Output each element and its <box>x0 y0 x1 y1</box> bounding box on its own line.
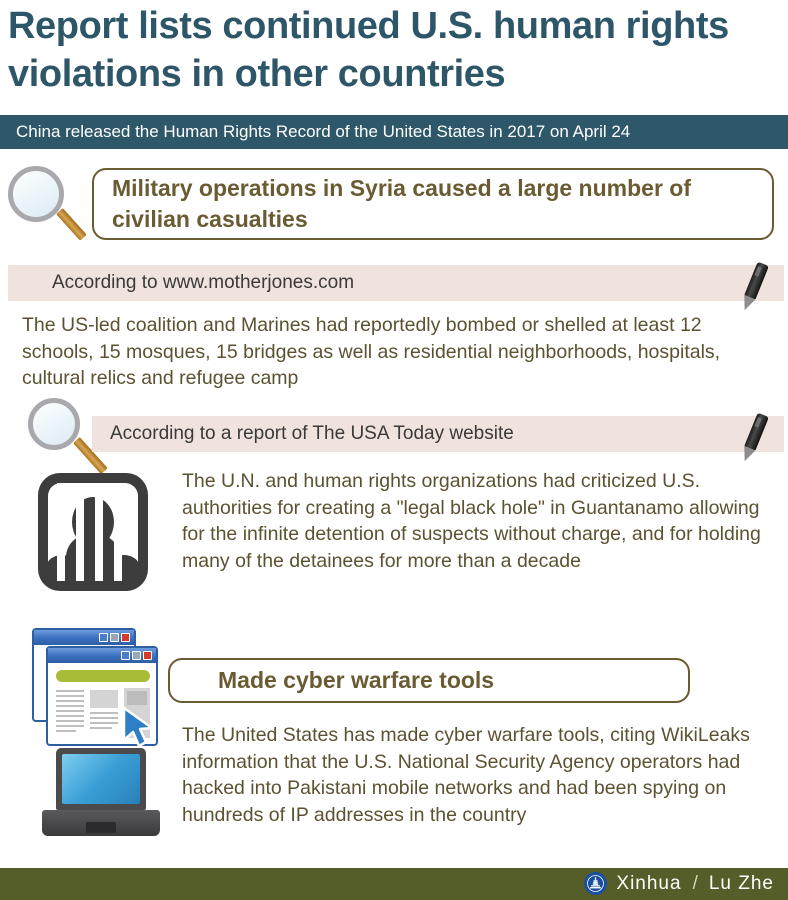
footer-credit: Xinhua / Lu Zhe <box>584 872 774 895</box>
section-1-source-text: According to www.motherjones.com <box>52 271 354 295</box>
section-1-callout: Military operations in Syria caused a la… <box>92 168 774 240</box>
footer-bar: Xinhua / Lu Zhe <box>0 868 788 900</box>
cursor-arrow-icon <box>122 706 156 748</box>
footer-author: Lu Zhe <box>709 872 774 895</box>
text-line <box>56 710 84 712</box>
jail-bar <box>114 483 122 581</box>
text-line <box>56 730 76 732</box>
subtitle-bar: China released the Human Rights Record o… <box>0 115 788 149</box>
window-maximize-button[interactable] <box>110 633 119 642</box>
browser-windows-icon <box>30 628 170 750</box>
window-close-button[interactable] <box>121 633 130 642</box>
content-image-block <box>90 690 118 708</box>
section-3-callout-text: Made cyber warfare tools <box>170 665 542 696</box>
page-title: Report lists continued U.S. human rights… <box>8 2 784 98</box>
pen-band <box>754 417 761 428</box>
text-line <box>56 700 84 702</box>
section-3-body-text: The United States has made cyber warfare… <box>182 722 762 828</box>
section-1-body-text: The US-led coalition and Marines had rep… <box>22 312 766 392</box>
subtitle-text: China released the Human Rights Record o… <box>16 121 630 143</box>
jail-bar <box>57 483 65 581</box>
text-line <box>90 727 112 729</box>
section-2-source-text: According to a report of The USA Today w… <box>110 422 514 446</box>
text-line <box>56 690 84 692</box>
jail-bar <box>76 483 84 581</box>
text-line <box>56 695 84 697</box>
jail-cell-interior <box>48 483 138 581</box>
window-minimize-button[interactable] <box>121 651 130 660</box>
laptop-screen <box>62 754 140 804</box>
magnifier-handle <box>56 208 87 241</box>
pen-band <box>754 266 761 277</box>
text-line <box>56 715 84 717</box>
window-close-button[interactable] <box>143 651 152 660</box>
infographic-page: Report lists continued U.S. human rights… <box>0 0 788 900</box>
text-line <box>90 722 118 724</box>
section-3-callout: Made cyber warfare tools <box>168 658 690 703</box>
laptop-trackpad <box>86 822 116 833</box>
sidebar-thumb <box>127 691 147 705</box>
window-minimize-button[interactable] <box>99 633 108 642</box>
prisoner-shoulder-right <box>108 555 140 581</box>
laptop-icon <box>42 748 160 840</box>
jail-bar <box>95 483 103 581</box>
magnifier-icon <box>8 166 84 246</box>
xinhua-logo-icon <box>584 872 607 895</box>
page-header-banner <box>56 670 150 682</box>
text-line <box>56 720 84 722</box>
footer-separator: / <box>691 872 700 895</box>
section-1-callout-text: Military operations in Syria caused a la… <box>94 173 772 235</box>
browser-titlebar <box>34 630 134 645</box>
magnifier-icon <box>28 398 100 474</box>
footer-agency: Xinhua <box>616 872 681 895</box>
text-line <box>90 717 118 719</box>
prisoner-jail-icon <box>38 473 148 591</box>
text-line <box>56 705 84 707</box>
magnifier-ring <box>28 398 80 450</box>
section-2-body-text: The U.N. and human rights organizations … <box>182 468 782 574</box>
text-line <box>56 725 84 727</box>
text-line <box>90 712 118 714</box>
window-maximize-button[interactable] <box>132 651 141 660</box>
